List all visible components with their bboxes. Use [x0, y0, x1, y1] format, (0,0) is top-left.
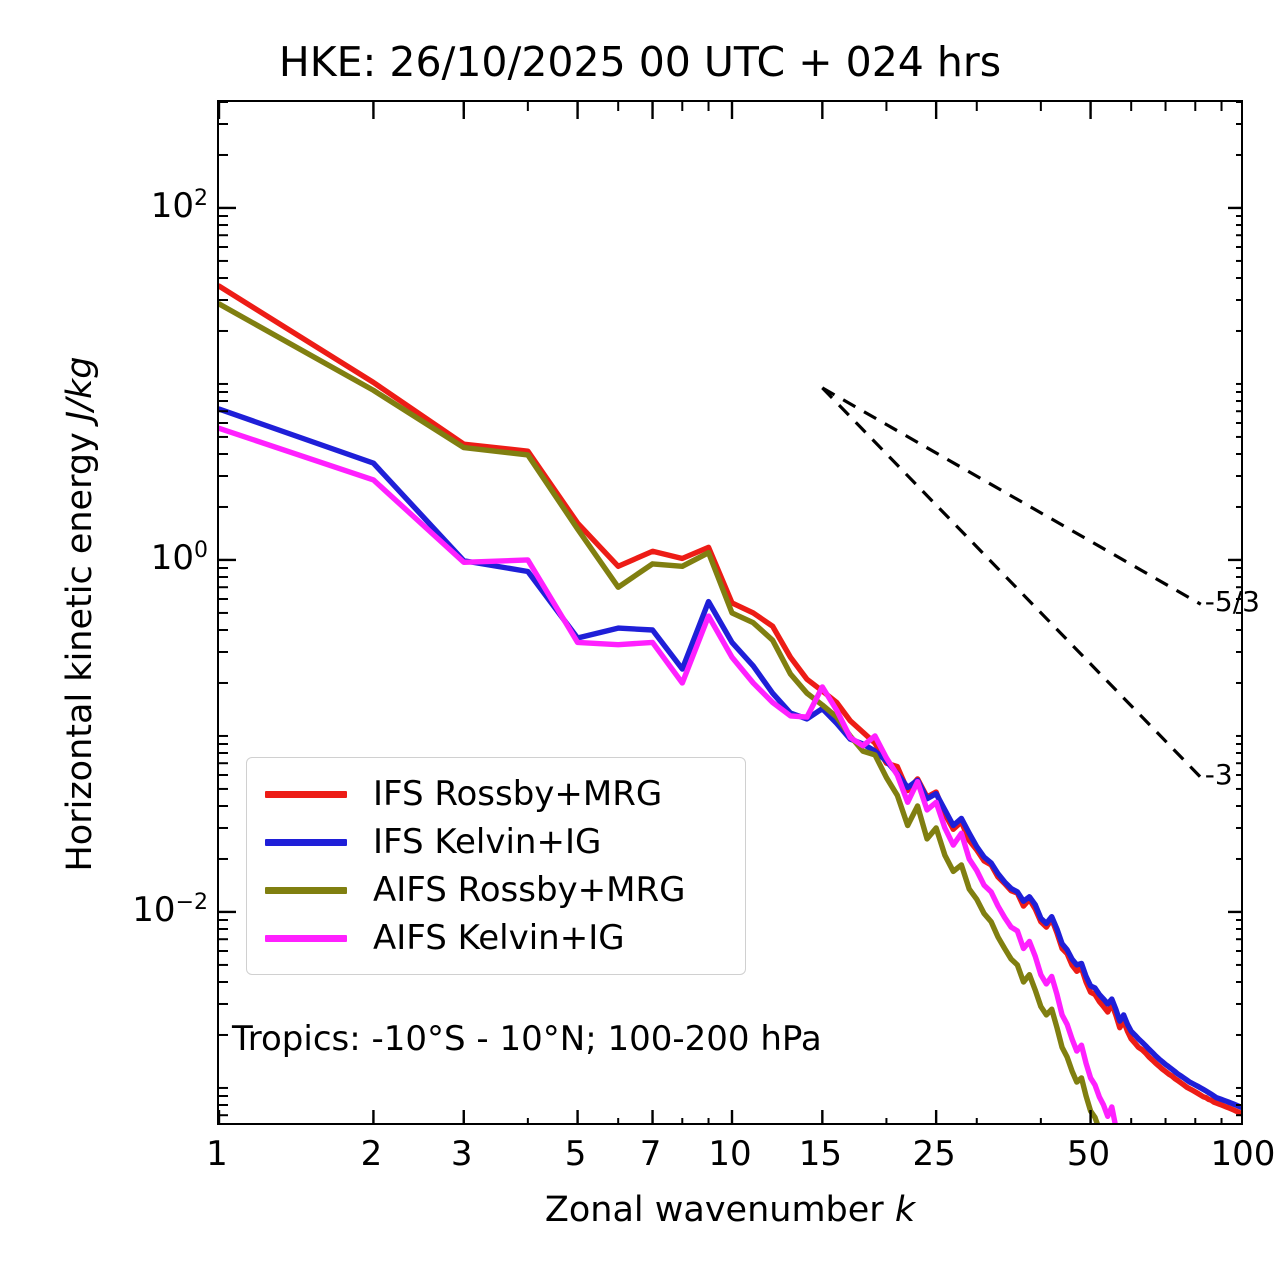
- legend-label-ifs-rossby-mrg: IFS Rossby+MRG: [373, 777, 662, 811]
- legend: IFS Rossby+MRG IFS Kelvin+IG AIFS Rossby…: [246, 757, 746, 975]
- legend-label-aifs-rossby-mrg: AIFS Rossby+MRG: [373, 873, 685, 907]
- x-tick-label: 2: [361, 1134, 383, 1174]
- reference-slope-line: [822, 388, 1200, 778]
- x-tick-label: 10: [708, 1134, 751, 1174]
- y-axis-label-text: Horizontal kinetic energy: [60, 421, 100, 871]
- y-tick-label: 10−2: [132, 890, 208, 930]
- legend-swatch-ifs-kelvin-ig: [265, 839, 347, 846]
- x-tick-label: 50: [1067, 1134, 1110, 1174]
- legend-swatch-aifs-kelvin-ig: [265, 935, 347, 942]
- legend-swatch-aifs-rossby-mrg: [265, 887, 347, 894]
- legend-item[interactable]: IFS Rossby+MRG: [247, 770, 745, 818]
- series-line: [219, 304, 1169, 1125]
- x-tick-label: 7: [640, 1134, 662, 1174]
- y-axis-label: Horizontal kinetic energy J/kg: [60, 204, 100, 1024]
- legend-label-ifs-kelvin-ig: IFS Kelvin+IG: [373, 825, 601, 859]
- x-tick-label: 15: [799, 1134, 842, 1174]
- y-tick-label: 100: [151, 538, 208, 578]
- slope-label: -5/3: [1205, 585, 1260, 618]
- legend-swatch-ifs-rossby-mrg: [265, 791, 347, 798]
- legend-item[interactable]: AIFS Kelvin+IG: [247, 914, 745, 962]
- reference-slope-line: [822, 388, 1200, 604]
- x-tick-label: 3: [451, 1134, 473, 1174]
- legend-label-aifs-kelvin-ig: AIFS Kelvin+IG: [373, 921, 625, 955]
- legend-item[interactable]: AIFS Rossby+MRG: [247, 866, 745, 914]
- x-tick-label: 5: [565, 1134, 587, 1174]
- x-axis-label: Zonal wavenumber k: [217, 1190, 1243, 1230]
- x-tick-label: 25: [913, 1134, 956, 1174]
- x-axis-label-text: Zonal wavenumber: [545, 1190, 895, 1230]
- y-axis-label-units: J/kg: [60, 356, 100, 421]
- chart-title: HKE: 26/10/2025 00 UTC + 024 hrs: [0, 38, 1280, 86]
- series-line: [219, 286, 1243, 1115]
- x-axis-label-symbol: k: [895, 1190, 915, 1230]
- region-annotation: Tropics: -10°S - 10°N; 100-200 hPa: [232, 1019, 822, 1059]
- legend-item[interactable]: IFS Kelvin+IG: [247, 818, 745, 866]
- x-tick-label: 1: [206, 1134, 228, 1174]
- y-tick-label: 102: [151, 186, 208, 226]
- x-tick-label: 100: [1211, 1134, 1276, 1174]
- slope-label: -3: [1205, 758, 1233, 791]
